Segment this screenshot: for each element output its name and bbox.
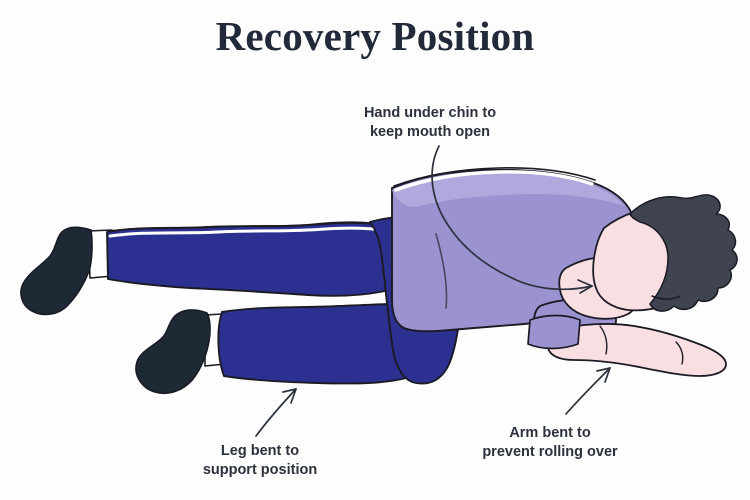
upper-shoe: [21, 227, 92, 314]
leader-line-arm: [566, 368, 610, 414]
leader-line-leg: [256, 389, 296, 436]
lower-shoe: [136, 310, 210, 393]
callout-hand-line1: Hand under chin to: [340, 104, 520, 123]
callout-hand-under-chin: Hand under chin to keep mouth open: [340, 104, 520, 141]
upper-foot-group: [21, 227, 113, 314]
callout-leg-bent: Leg bent to support position: [170, 442, 350, 479]
callout-leg-line1: Leg bent to: [170, 442, 350, 461]
lower-foot-group: [136, 310, 225, 393]
callout-arm-line2: prevent rolling over: [455, 443, 645, 462]
callout-arm-line1: Arm bent to: [455, 424, 645, 443]
callout-leg-line2: support position: [170, 461, 350, 480]
illustration-canvas: Recovery Position: [0, 0, 750, 500]
callout-arm-bent: Arm bent to prevent rolling over: [455, 424, 645, 461]
shirt-shoulder-piece: [528, 316, 580, 349]
callout-hand-line2: keep mouth open: [340, 123, 520, 142]
